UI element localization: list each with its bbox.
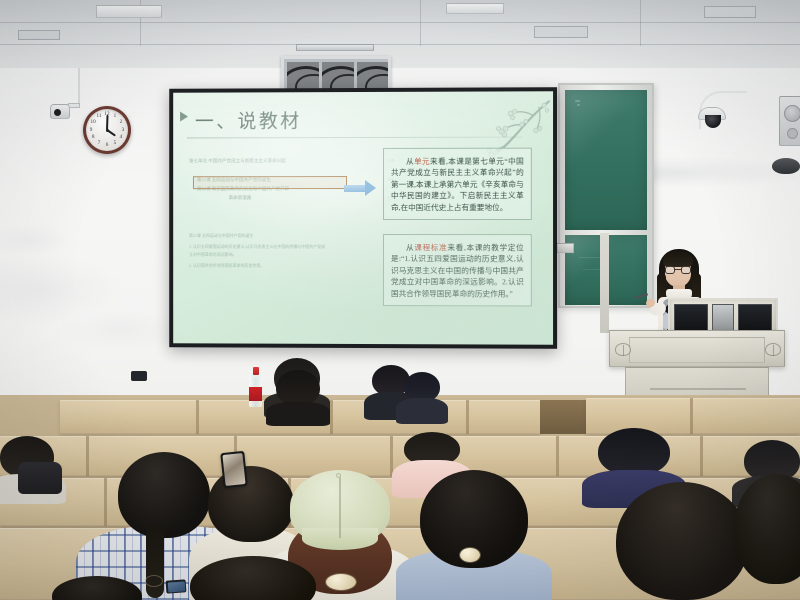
ceiling-light-fixture (96, 5, 162, 18)
phone-on-desk (131, 371, 147, 381)
student-bottom-left (52, 576, 142, 600)
student-far-right (616, 482, 748, 600)
student-head (52, 576, 142, 600)
teacher-hair-fringe (663, 251, 693, 267)
backpack-on-seat (18, 462, 62, 494)
student-front-row-center (276, 370, 320, 418)
smartphone-in-hand[interactable] (166, 579, 187, 593)
lectern-emblem (765, 343, 781, 356)
student-front-row-far-right (404, 372, 440, 420)
highlighted-term: 单元 (414, 157, 430, 166)
toc-line: 第七单元 中国共产党成立与新民主主义革命兴起 118 (189, 156, 372, 165)
triangle-bullet-icon (180, 112, 188, 122)
camera-cable (78, 68, 80, 106)
toc-line: 革命新道路 126 (189, 193, 372, 202)
ceiling (0, 0, 800, 68)
hair-tie (326, 574, 356, 590)
camera-lens (54, 109, 61, 116)
right-arrow-icon (344, 185, 366, 192)
student-head (208, 466, 294, 542)
footnote-line: 1. 认识五四爱国运动的历史意义;认识马克思主义在中国的传播与中国共产党成 (189, 243, 374, 251)
projector-mount-rail (296, 44, 374, 51)
lectern-top (609, 330, 785, 367)
highlighted-term: 课程标准 (414, 243, 447, 252)
student-head (598, 428, 670, 476)
monitor-center (712, 304, 734, 332)
wall-mounted-lamp (772, 158, 800, 174)
bottle-cap (253, 367, 259, 375)
student-braid (146, 524, 164, 598)
student-light-blue-shirt (420, 470, 528, 600)
student-shoulders (266, 402, 329, 426)
ceiling-light-fixture (446, 3, 504, 14)
wall-clock: 12 1 2 3 4 5 6 7 8 9 10 11 (83, 106, 131, 154)
curriculum-standard-box: 从课程标准来看,本课的教学定位是:“1.认识五四爱国运动的历史意义,认识马克思主… (383, 234, 532, 306)
smartphone-recording[interactable] (220, 451, 248, 488)
clock-minute-hand (106, 115, 108, 130)
speaker-cone (784, 105, 800, 122)
footnote-title: 第21课 五四运动与中国共产党的诞生 (189, 232, 374, 240)
unit-position-box: 从单元来看,本课是第七单元“中国共产党成立与新民主主义革命兴起”的第一课,本课上… (383, 148, 532, 220)
blackboard-panel-upper (565, 90, 647, 230)
glasses-icon (665, 266, 691, 274)
classroom-photo: 12 1 2 3 4 5 6 7 8 9 10 11 (0, 0, 800, 600)
dome-surveillance-camera (698, 107, 726, 120)
hair-tie (146, 576, 162, 586)
student-head (734, 474, 800, 584)
speaker-cone (787, 128, 798, 139)
student-far-right-edge (734, 474, 800, 600)
monitor-right (738, 304, 772, 332)
ceiling-vent (534, 26, 588, 38)
presentation-slide: 一、说教材 (173, 91, 553, 344)
clock-center-pin (106, 129, 109, 132)
ceiling-vent (18, 30, 60, 40)
footnote-line: 2. 认识国共合作领导国民革命的历史作用。 (189, 262, 374, 270)
hair-tie (460, 548, 480, 562)
textbook-footnote: 第21课 五四运动与中国共产党的诞生 1. 认识五四爱国运动的历史意义;认识马克… (189, 232, 374, 270)
right-arrow-icon-head (365, 180, 376, 196)
ceiling-vent (704, 6, 756, 18)
toc-highlight-box (193, 176, 347, 189)
student-shoulders (396, 398, 448, 424)
podium-side-post (600, 233, 609, 333)
bottle-label (249, 387, 262, 401)
phone-screen (222, 453, 245, 486)
water-bottle (249, 365, 262, 407)
footnote-line: 立对中国革命的深远影响。 (189, 251, 374, 259)
monitor-left (674, 304, 708, 332)
student-bottom-center (190, 556, 316, 600)
lectern-front-panel (629, 337, 765, 363)
student-head (276, 370, 320, 406)
slide-title: 一、说教材 (195, 106, 302, 133)
student-head (616, 482, 748, 600)
lectern-emblem (615, 343, 631, 356)
clock-face: 12 1 2 3 4 5 6 7 8 9 10 11 (86, 109, 128, 151)
surveillance-camera (50, 104, 70, 119)
wall-speaker (779, 96, 800, 146)
projection-screen: 一、说教材 (169, 87, 557, 349)
student-head (118, 452, 210, 538)
student-head (190, 556, 316, 600)
